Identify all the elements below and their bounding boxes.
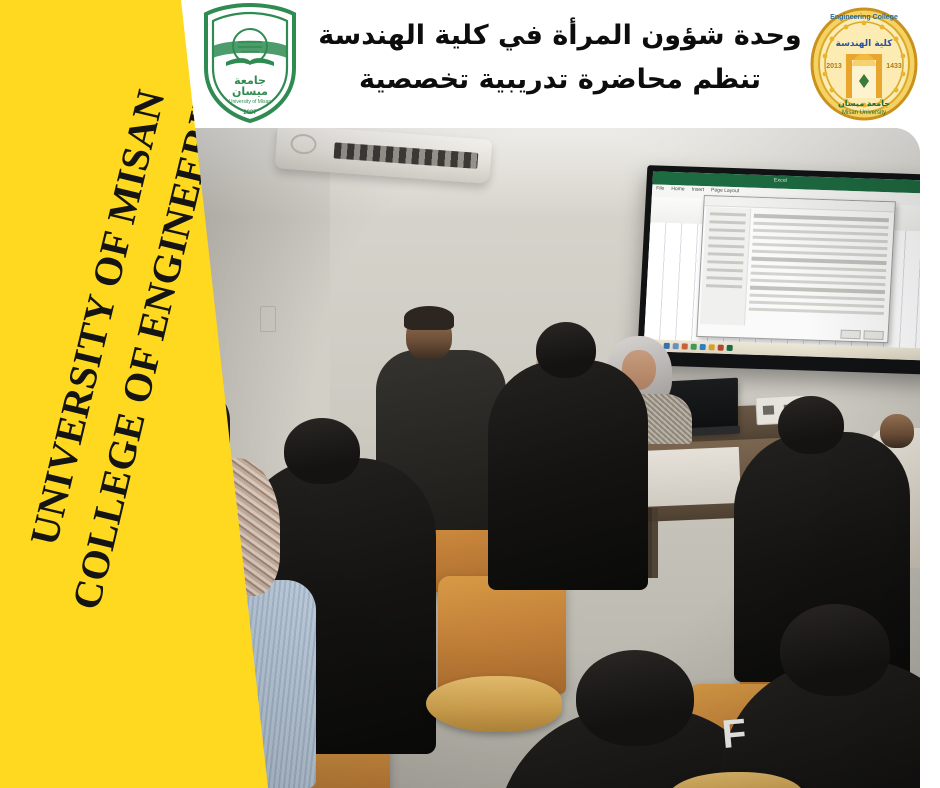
attendee-abaya-center-back xyxy=(488,360,648,590)
chair-front-center-tablet-arm xyxy=(426,676,562,732)
excel-tab-insert: Insert xyxy=(691,187,704,193)
attendee-head-left xyxy=(284,418,360,484)
attendee-head-right-back xyxy=(778,396,844,454)
svg-text:Misan University: Misan University xyxy=(842,110,886,116)
excel-tab-page-layout: Page Layout xyxy=(711,187,739,194)
excel-title-label: Excel xyxy=(774,177,788,183)
header-line-2: تنظم محاضرة تدريبية تخصصية xyxy=(310,58,810,102)
air-conditioner-dial xyxy=(290,133,317,155)
svg-text:Engineering College: Engineering College xyxy=(830,14,898,21)
header-line-1: وحدة شؤون المرأة في كلية الهندسة xyxy=(310,14,810,58)
excel-options-dialog-buttons xyxy=(840,330,883,340)
excel-options-dialog xyxy=(696,195,896,343)
display-screen-content: Excel ●● File Home Insert Page Layout xyxy=(643,171,920,360)
attendee-right-head xyxy=(880,414,914,448)
excel-options-category-list xyxy=(700,207,751,325)
attendee-man-hair xyxy=(404,306,454,330)
svg-text:2007: 2007 xyxy=(243,110,257,116)
svg-text:University of Misan: University of Misan xyxy=(229,99,271,105)
college-of-engineering-seal-logo: Engineering College كلية الهندسة 2013 14… xyxy=(806,6,922,122)
excel-tab-strip: File Home Insert Page Layout xyxy=(656,185,739,194)
poster-canvas: Excel ●● File Home Insert Page Layout xyxy=(0,0,940,788)
svg-text:2013: 2013 xyxy=(826,63,842,70)
excel-tab-file: File xyxy=(656,185,664,191)
header-announcement-text: وحدة شؤون المرأة في كلية الهندسة تنظم مح… xyxy=(310,14,810,102)
classroom-photo: Excel ●● File Home Insert Page Layout xyxy=(180,128,920,788)
svg-text:جامعة ميسان: جامعة ميسان xyxy=(838,99,890,108)
excel-options-panel xyxy=(746,210,891,330)
svg-text:كلية الهندسة: كلية الهندسة xyxy=(836,39,894,49)
attendee-head-center-back xyxy=(536,322,596,378)
attendee-head-right-front xyxy=(780,604,890,696)
university-of-misan-shield-logo: جامعة ميسان University of Misan 2007 xyxy=(198,2,302,124)
air-conditioner-vent xyxy=(334,142,479,169)
svg-text:1433: 1433 xyxy=(886,63,902,70)
excel-tab-home: Home xyxy=(671,186,685,192)
attendee-head-center-front xyxy=(576,650,694,746)
wall-plate xyxy=(260,306,276,332)
svg-text:ميسان: ميسان xyxy=(232,85,268,98)
chair-letter-f: F xyxy=(721,716,750,752)
